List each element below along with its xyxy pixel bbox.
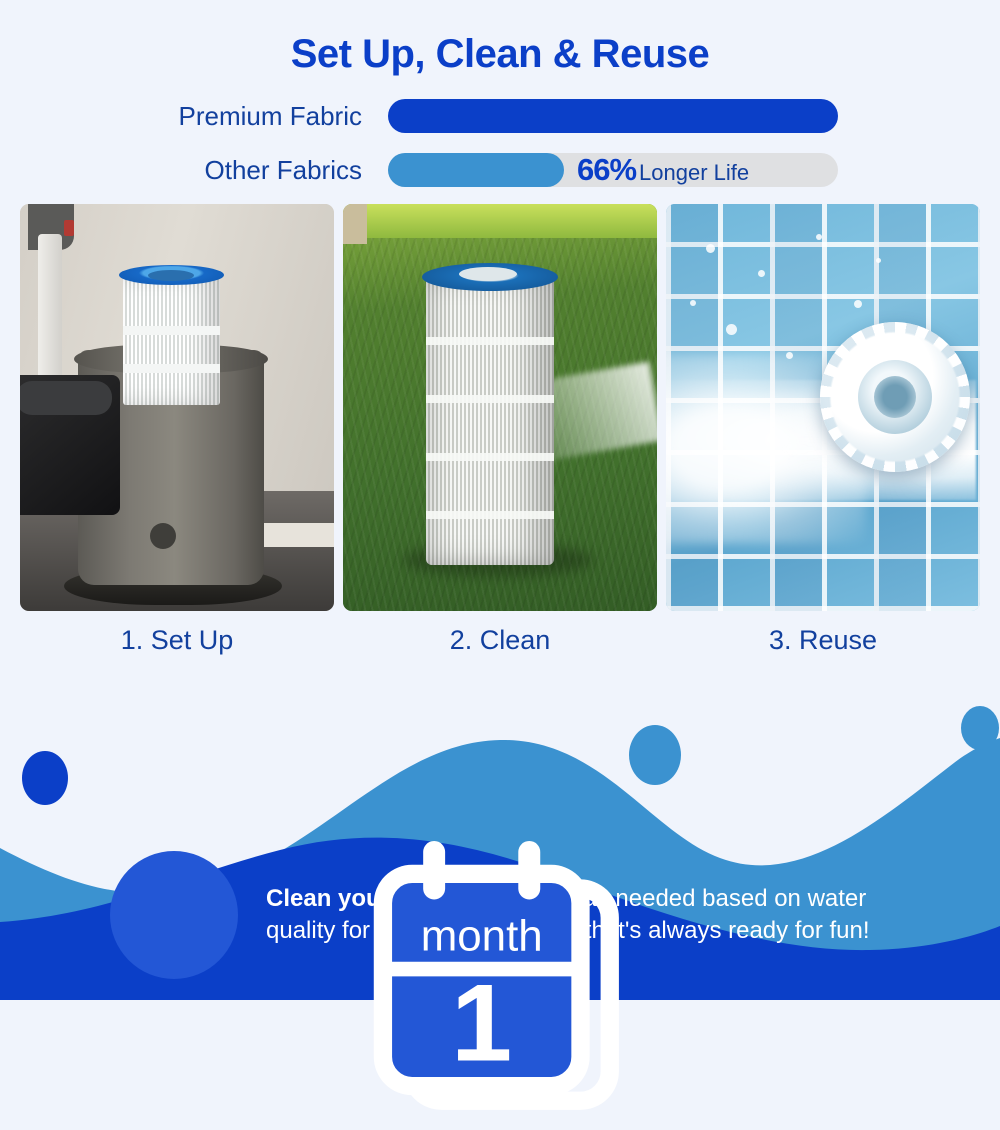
step-photo-clean [343,204,657,611]
footer-section: month 1 Clean your filter monthly or as … [0,700,1000,1000]
dot-right-light [961,706,999,750]
page-title: Set Up, Clean & Reuse [0,0,1000,76]
step-card-2: 2. Clean [343,204,657,656]
bar-label-premium: Premium Fabric [0,101,388,132]
bar-label-other: Other Fabrics [0,155,388,186]
calendar-month-icon: month 1 [0,830,1000,1130]
bar-row-premium: Premium Fabric [0,96,1000,136]
step-photo-row: 1. Set Up 2. Clean [0,204,1000,656]
step-photo-setup [20,204,334,611]
step-caption-3: 3. Reuse [666,625,980,656]
step-card-1: 1. Set Up [20,204,334,656]
percent-label: Longer Life [639,160,749,186]
fabric-comparison-chart: Premium Fabric Other Fabrics 66% Longer … [0,96,1000,190]
bar-row-other: Other Fabrics 66% Longer Life [0,150,1000,190]
percent-value: 66% [577,152,636,188]
calendar-month-label: month [421,912,543,961]
bar-fill-premium [388,99,838,133]
longer-life-annotation: 66% Longer Life [577,152,749,188]
calendar-day-number: 1 [451,962,512,1084]
dot-center-light [629,725,681,785]
bar-fill-other [388,153,564,187]
bar-track-premium [388,99,838,133]
step-caption-2: 2. Clean [343,625,657,656]
footer-tip: month 1 Clean your filter monthly or as … [0,830,1000,1000]
step-photo-reuse [666,204,980,611]
step-caption-1: 1. Set Up [20,625,334,656]
dot-left-dark [22,751,68,805]
step-card-3: 3. Reuse [666,204,980,656]
calendar-badge: month 1 [110,851,238,979]
bar-track-other: 66% Longer Life [388,153,838,187]
